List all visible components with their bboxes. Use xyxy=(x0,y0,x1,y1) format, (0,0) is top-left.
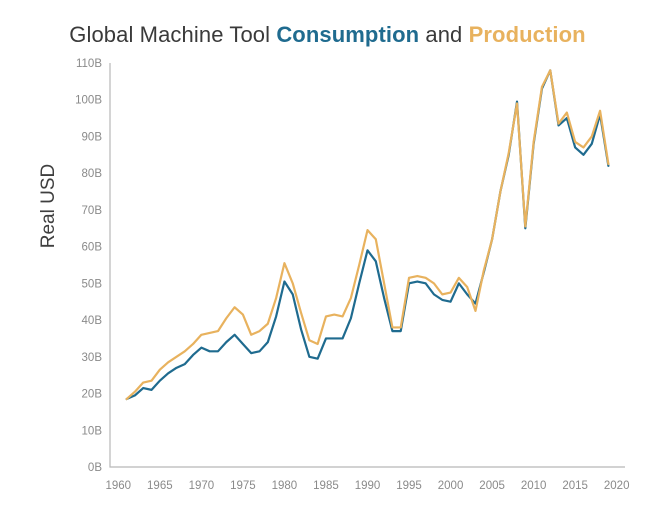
x-tick-label: 1985 xyxy=(313,480,339,492)
x-tick-label: 1980 xyxy=(272,480,298,492)
y-axis-tick-labels: 0B10B20B30B40B50B60B70B80B90B100B110B xyxy=(75,58,102,474)
x-tick-label: 2000 xyxy=(438,480,464,492)
x-tick-label: 1965 xyxy=(147,480,173,492)
x-axis-tick-labels: 1960196519701975198019851990199520002005… xyxy=(106,480,630,492)
y-tick-label: 20B xyxy=(82,389,103,401)
x-tick-label: 2005 xyxy=(479,480,505,492)
y-tick-label: 60B xyxy=(82,242,103,254)
y-tick-label: 30B xyxy=(82,352,103,364)
y-tick-label: 0B xyxy=(88,462,102,474)
series-lines xyxy=(127,70,609,399)
x-tick-label: 2015 xyxy=(562,480,588,492)
x-tick-label: 1970 xyxy=(189,480,215,492)
y-tick-label: 40B xyxy=(82,315,103,327)
y-tick-label: 10B xyxy=(82,425,103,437)
y-tick-label: 80B xyxy=(82,168,103,180)
x-tick-label: 1975 xyxy=(230,480,256,492)
x-tick-label: 2020 xyxy=(604,480,630,492)
x-tick-label: 1990 xyxy=(355,480,381,492)
x-tick-label: 1960 xyxy=(106,480,132,492)
y-tick-label: 100B xyxy=(75,95,102,107)
x-tick-label: 1995 xyxy=(396,480,422,492)
y-tick-label: 90B xyxy=(82,131,103,143)
line-chart-svg: 0B10B20B30B40B50B60B70B80B90B100B110B 19… xyxy=(0,0,655,521)
x-tick-label: 2010 xyxy=(521,480,547,492)
y-tick-label: 110B xyxy=(76,58,102,70)
axis-lines xyxy=(110,63,625,467)
y-tick-label: 50B xyxy=(82,278,103,290)
chart-container: Global Machine Tool Consumption and Prod… xyxy=(0,0,655,521)
y-tick-label: 70B xyxy=(82,205,103,217)
